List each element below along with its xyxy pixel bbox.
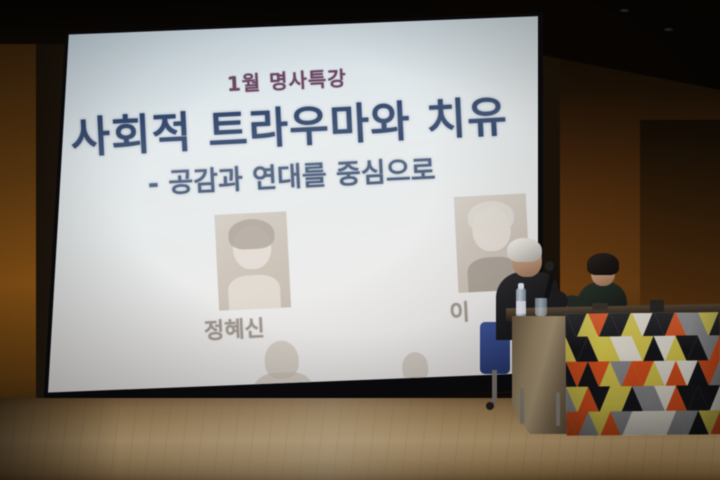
tablecloth-triangle [709,410,720,436]
tablecloth-row [566,335,720,363]
microphone-head-icon [545,261,554,271]
table-small-object [592,303,608,310]
portrait-body [227,274,281,311]
patterned-tablecloth [565,312,720,436]
tablecloth-triangle [709,360,720,386]
portrait-hair [467,200,514,232]
slide-portrait-left [214,211,291,310]
tablecloth-row [566,360,720,388]
water-bottle-cap [518,283,524,289]
slide-speaker-name-right: 이 [449,294,471,327]
slide-speaker-name-left: 정혜신 [203,311,265,346]
tablecloth-row [565,312,720,338]
water-bottle-label [516,301,526,314]
ceiling-light-icon [664,28,673,31]
lecturer-hair [507,238,542,262]
tablecloth-row [566,385,720,413]
office-chair-post [492,370,497,404]
table-leg [556,392,560,426]
office-chair-wheel [486,402,494,410]
tablecloth-triangle [709,335,720,361]
tablecloth-triangle [708,312,720,336]
moderator-hair [587,253,619,275]
projected-slide: 1월 명사특강 사회적 트라우마와 치유 - 공감과 연대를 중심으로 정혜신 … [46,13,540,398]
tablecloth-triangle [709,385,720,411]
tablecloth-row [566,410,720,436]
photo-scene: 1월 명사특강 사회적 트라우마와 치유 - 공감과 연대를 중심으로 정혜신 … [0,0,720,480]
dark-cup [650,300,664,312]
drinking-glass [535,298,547,316]
projection-screen: 1월 명사특강 사회적 트라우마와 치유 - 공감과 연대를 중심으로 정혜신 … [46,13,540,398]
floor-shadow-left [0,398,120,480]
left-wood-panel [0,0,36,430]
portrait-hair [228,218,275,250]
audience-silhouette-head [264,340,300,380]
table-leg [520,388,524,424]
ceiling-light-icon [620,9,629,12]
